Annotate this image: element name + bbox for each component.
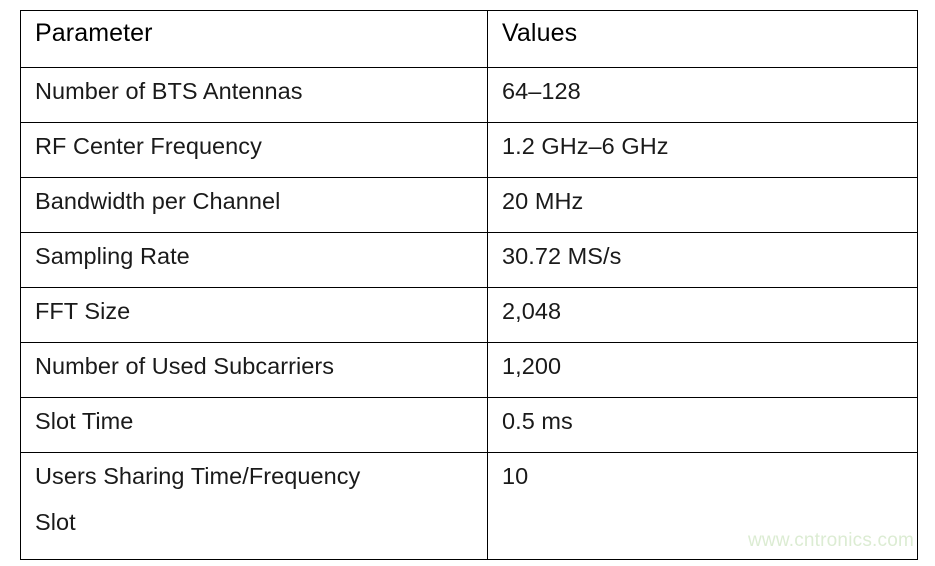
parameter-text: Users Sharing Time/Frequency — [35, 453, 487, 499]
cell-value: 64–128 — [488, 68, 918, 123]
page-root: Parameter Values Number of BTS Antennas … — [0, 0, 935, 566]
table-row: FFT Size 2,048 — [21, 288, 918, 343]
value-text: 1.2 GHz–6 GHz — [502, 123, 917, 169]
parameter-text-line2: Slot — [35, 499, 487, 545]
cell-parameter: Users Sharing Time/Frequency Slot — [21, 453, 488, 560]
value-text: 30.72 MS/s — [502, 233, 917, 279]
table-row: Sampling Rate 30.72 MS/s — [21, 233, 918, 288]
cell-value: 2,048 — [488, 288, 918, 343]
cell-value: 10 — [488, 453, 918, 560]
cell-parameter: RF Center Frequency — [21, 123, 488, 178]
value-text: 64–128 — [502, 68, 917, 114]
table-row: RF Center Frequency 1.2 GHz–6 GHz — [21, 123, 918, 178]
value-text: 10 — [502, 453, 917, 499]
value-text: 20 MHz — [502, 178, 917, 224]
cell-value: 1,200 — [488, 343, 918, 398]
cell-parameter: Number of Used Subcarriers — [21, 343, 488, 398]
cell-value: 20 MHz — [488, 178, 918, 233]
cell-parameter: Sampling Rate — [21, 233, 488, 288]
cell-value: 30.72 MS/s — [488, 233, 918, 288]
cell-parameter: Bandwidth per Channel — [21, 178, 488, 233]
column-header-values: Values — [488, 11, 918, 68]
table-header-row: Parameter Values — [21, 11, 918, 68]
table-row: Slot Time 0.5 ms — [21, 398, 918, 453]
cell-value: 0.5 ms — [488, 398, 918, 453]
table-row: Number of Used Subcarriers 1,200 — [21, 343, 918, 398]
parameter-text: Bandwidth per Channel — [35, 178, 487, 224]
cell-parameter: Number of BTS Antennas — [21, 68, 488, 123]
parameter-text: FFT Size — [35, 288, 487, 334]
column-header-parameter: Parameter — [21, 11, 488, 68]
table-row: Bandwidth per Channel 20 MHz — [21, 178, 918, 233]
table-header: Parameter Values — [21, 11, 918, 68]
cell-parameter: Slot Time — [21, 398, 488, 453]
value-text: 0.5 ms — [502, 398, 917, 444]
parameter-text: Number of BTS Antennas — [35, 68, 487, 114]
value-text: 2,048 — [502, 288, 917, 334]
value-text: 1,200 — [502, 343, 917, 389]
table-row: Number of BTS Antennas 64–128 — [21, 68, 918, 123]
cell-value: 1.2 GHz–6 GHz — [488, 123, 918, 178]
parameter-text: Slot Time — [35, 398, 487, 444]
table-body: Number of BTS Antennas 64–128 RF Center … — [21, 68, 918, 560]
parameter-text: Sampling Rate — [35, 233, 487, 279]
parameter-values-table: Parameter Values Number of BTS Antennas … — [20, 10, 918, 560]
table-row: Users Sharing Time/Frequency Slot 10 — [21, 453, 918, 560]
parameter-text: RF Center Frequency — [35, 123, 487, 169]
parameter-text: Number of Used Subcarriers — [35, 343, 487, 389]
cell-parameter: FFT Size — [21, 288, 488, 343]
